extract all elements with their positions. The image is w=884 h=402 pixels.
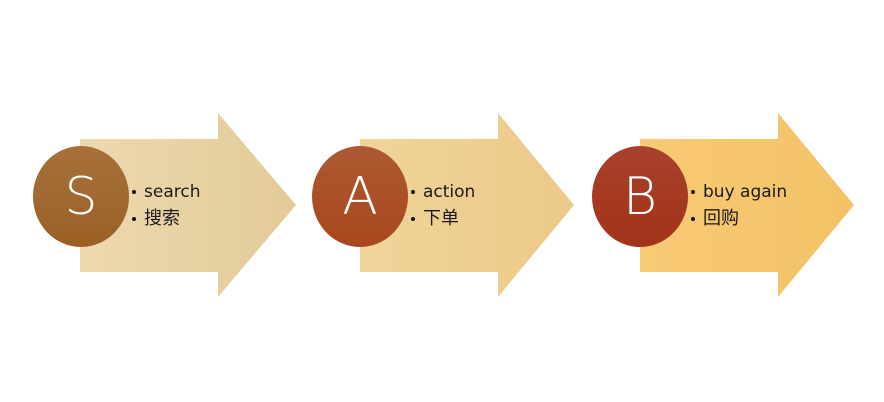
- stage-bullets-buy-again: buy again 回购: [691, 179, 787, 233]
- stage-badge-buy-again: B: [592, 146, 688, 247]
- diagram-canvas: S search 搜索 A: [0, 0, 884, 402]
- bullet-dot-icon: [691, 217, 695, 221]
- stage-letter-buy-again: B: [592, 146, 688, 247]
- bullet-text-zh: 回购: [703, 205, 739, 233]
- stage-buy-again: B buy again 回购: [0, 0, 884, 402]
- bullet-dot-icon: [691, 190, 695, 194]
- bullet-item: buy again: [691, 179, 787, 205]
- bullet-item: 回购: [691, 205, 787, 233]
- bullet-text-en: buy again: [703, 179, 787, 205]
